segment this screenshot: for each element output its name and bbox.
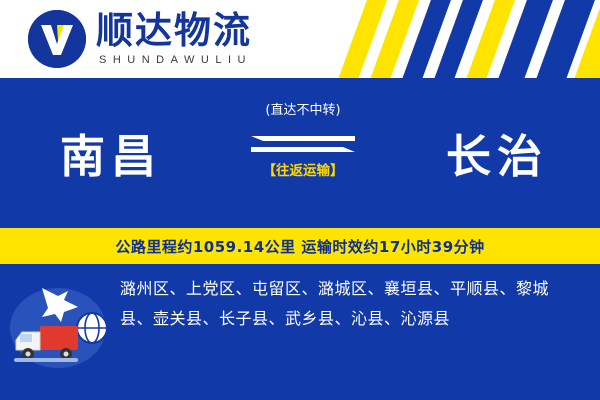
double-arrow-icon — [243, 124, 363, 162]
letter-w-logo-icon — [28, 10, 86, 68]
brand-logo: 顺达物流 SHUNDAWULIU — [28, 10, 252, 68]
origin-city: 南昌 — [60, 126, 162, 188]
regions-text: 潞州区、上党区、屯留区、潞城区、襄垣县、平顺县、黎城县、壶关县、长子县、武乡县、… — [120, 274, 550, 334]
bottom-strip — [0, 386, 600, 400]
brand-name-en: SHUNDAWULIU — [96, 53, 252, 67]
destination-city: 长治 — [446, 126, 548, 188]
header: 顺达物流 SHUNDAWULIU — [0, 0, 600, 78]
brand-name-cn: 顺达物流 — [96, 11, 252, 51]
route-note-top: (直达不中转) — [243, 102, 363, 120]
brand-text: 顺达物流 SHUNDAWULIU — [96, 11, 252, 67]
distance-band: 公路里程约1059.14公里 运输时效约17小时39分钟 — [0, 228, 600, 264]
route-note-bottom: 【往返运输】 — [243, 162, 363, 180]
poster-root: 顺达物流 SHUNDAWULIU 南昌 (直达不中转) 【往返运输】 长治 — [0, 0, 600, 400]
regions-block: 潞州区、上党区、屯留区、潞城区、襄垣县、平顺县、黎城县、壶关县、长子县、武乡县、… — [0, 264, 600, 384]
truck-globe-plane-icon — [0, 270, 120, 380]
main-body: 南昌 (直达不中转) 【往返运输】 长治 公路里程约1059.14公里 运输时效… — [0, 78, 600, 400]
route-block: 南昌 (直达不中转) 【往返运输】 长治 — [0, 126, 600, 212]
route-arrow-block: (直达不中转) 【往返运输】 — [243, 102, 363, 180]
distance-text: 公路里程约1059.14公里 运输时效约17小时39分钟 — [115, 236, 484, 257]
